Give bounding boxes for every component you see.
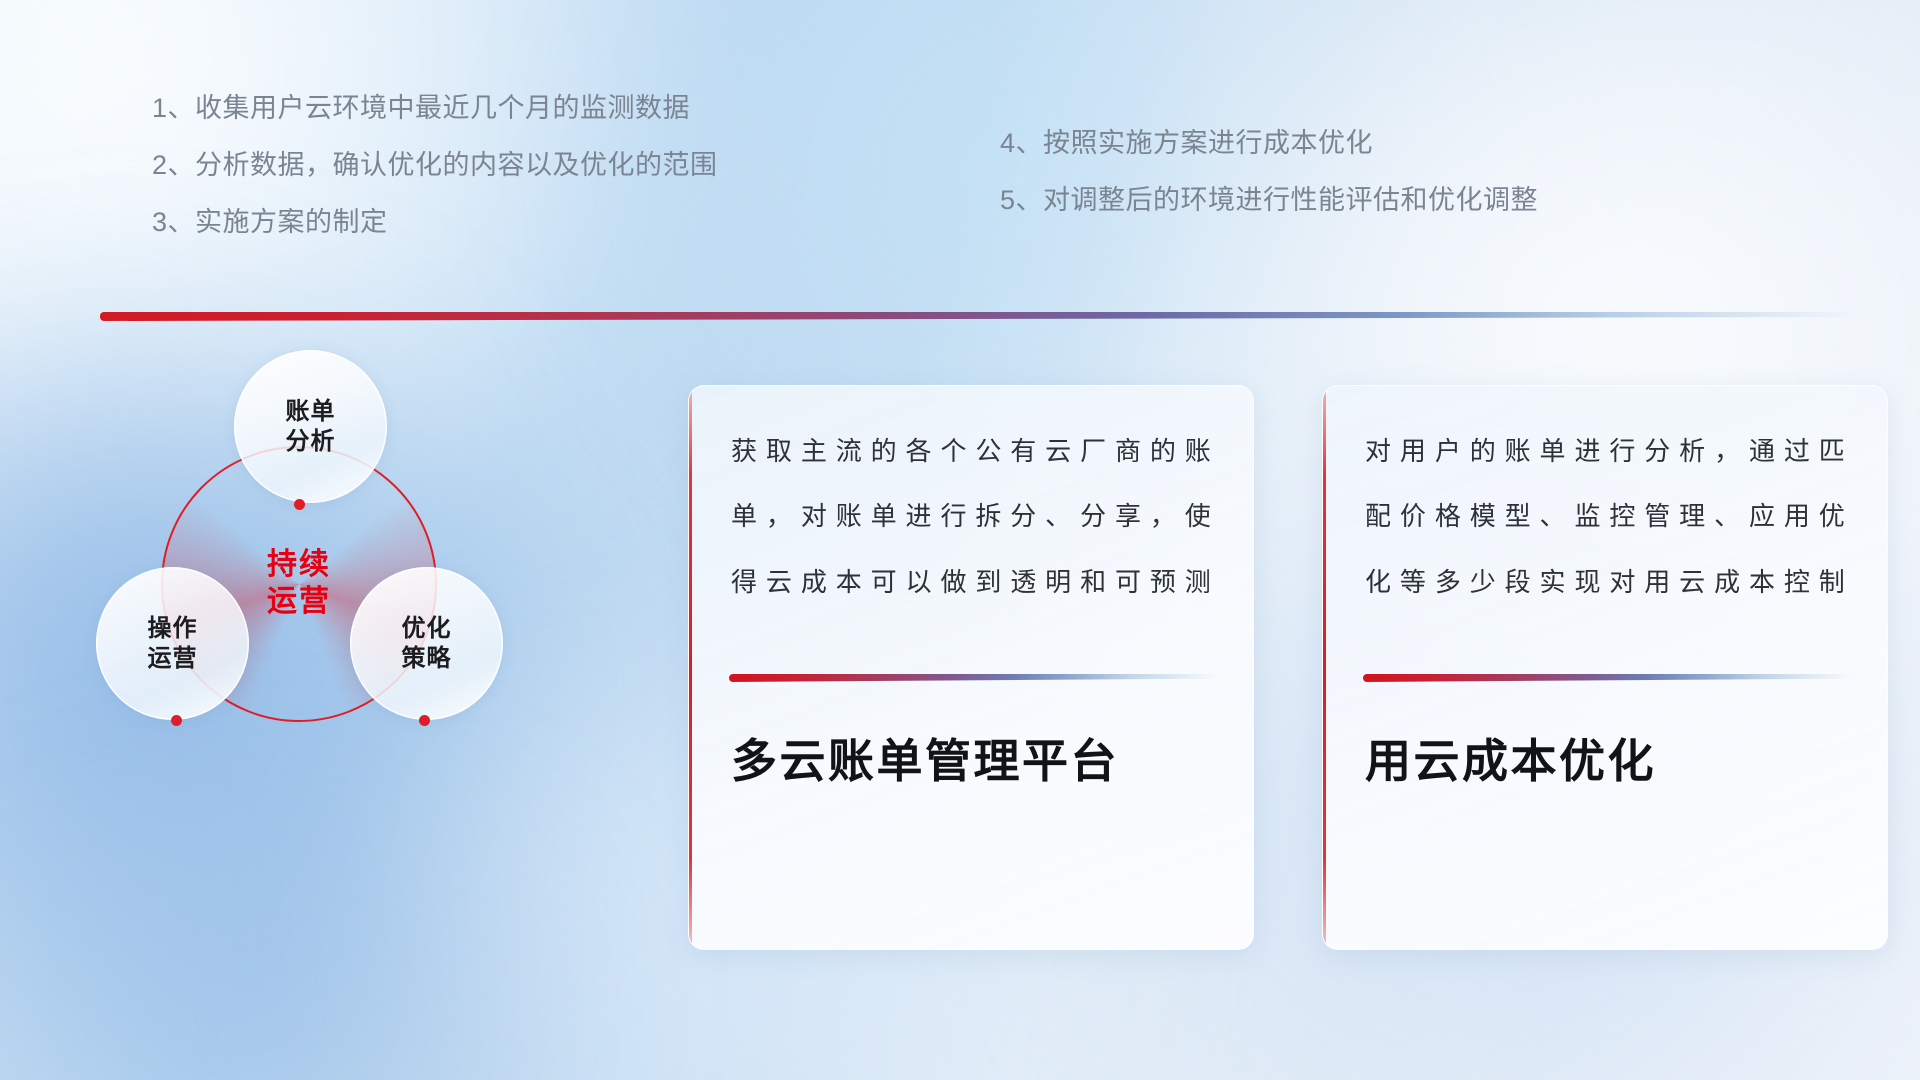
venn-node-label-line1: 操作 xyxy=(148,614,198,644)
card-paragraph-line: 对用户的账单进行分析，通过匹 xyxy=(1365,438,1845,465)
venn-node-operation-running[interactable]: 操作 运营 xyxy=(96,567,249,720)
center-label-line1: 持续 xyxy=(267,547,331,584)
steps-column-left: 1、收集用户云环境中最近几个月的监测数据 2、分析数据，确认优化的内容以及优化的… xyxy=(152,95,718,266)
venn-node-label-line2: 运营 xyxy=(148,644,198,674)
venn-diagram: 持续 运营 账单 分析 操作 运营 优化 策略 xyxy=(100,360,570,800)
step-item-3: 3、实施方案的制定 xyxy=(152,209,718,236)
card-paragraph-line: 单，对账单进行拆分、分享，使 xyxy=(731,503,1211,530)
card-paragraph-line: 化等多少段实现对用云成本控制 xyxy=(1365,569,1845,596)
venn-node-label: 操作 运营 xyxy=(148,614,198,674)
steps-column-right: 4、按照实施方案进行成本优化 5、对调整后的环境进行性能评估和优化调整 xyxy=(1000,130,1538,244)
venn-node-label-line2: 策略 xyxy=(402,644,452,674)
venn-connector-dot-bottom-right xyxy=(419,715,430,726)
venn-node-optimization-policy[interactable]: 优化 策略 xyxy=(350,567,503,720)
card-divider xyxy=(1363,674,1853,682)
venn-node-label-line1: 优化 xyxy=(402,614,452,644)
card-body: 对用户的账单进行分析，通过匹 配价格模型、监控管理、应用优 化等多少段实现对用云… xyxy=(1365,438,1845,634)
steps-list: 1、收集用户云环境中最近几个月的监测数据 2、分析数据，确认优化的内容以及优化的… xyxy=(0,95,1920,255)
step-item-2: 2、分析数据，确认优化的内容以及优化的范围 xyxy=(152,152,718,179)
feature-cards: 获取主流的各个公有云厂商的账 单，对账单进行拆分、分享，使 得云成本可以做到透明… xyxy=(688,385,1888,950)
venn-node-bill-analysis[interactable]: 账单 分析 xyxy=(234,350,387,503)
venn-node-label-line1: 账单 xyxy=(286,397,336,427)
card-body: 获取主流的各个公有云厂商的账 单，对账单进行拆分、分享，使 得云成本可以做到透明… xyxy=(731,438,1211,634)
card-paragraph-line: 配价格模型、监控管理、应用优 xyxy=(1365,503,1845,530)
card-multi-cloud-bill-platform[interactable]: 获取主流的各个公有云厂商的账 单，对账单进行拆分、分享，使 得云成本可以做到透明… xyxy=(688,385,1254,950)
venn-connector-dot-bottom-left xyxy=(171,715,182,726)
card-title: 多云账单管理平台 xyxy=(731,738,1119,784)
card-paragraph-line: 获取主流的各个公有云厂商的账 xyxy=(731,438,1211,465)
card-divider xyxy=(729,674,1219,682)
card-cloud-cost-optimization[interactable]: 对用户的账单进行分析，通过匹 配价格模型、监控管理、应用优 化等多少段实现对用云… xyxy=(1322,385,1888,950)
card-title: 用云成本优化 xyxy=(1365,738,1656,784)
section-divider xyxy=(100,312,1860,321)
center-label-line2: 运营 xyxy=(267,584,331,621)
step-item-1: 1、收集用户云环境中最近几个月的监测数据 xyxy=(152,95,718,122)
venn-node-label-line2: 分析 xyxy=(286,427,336,457)
card-paragraph-line: 得云成本可以做到透明和可预测 xyxy=(731,569,1211,596)
venn-connector-dot-top xyxy=(294,499,305,510)
venn-node-label: 账单 分析 xyxy=(286,397,336,457)
section-divider-bar xyxy=(100,312,1860,321)
step-item-4: 4、按照实施方案进行成本优化 xyxy=(1000,130,1538,157)
venn-node-label: 优化 策略 xyxy=(402,614,452,674)
step-item-5: 5、对调整后的环境进行性能评估和优化调整 xyxy=(1000,187,1538,214)
